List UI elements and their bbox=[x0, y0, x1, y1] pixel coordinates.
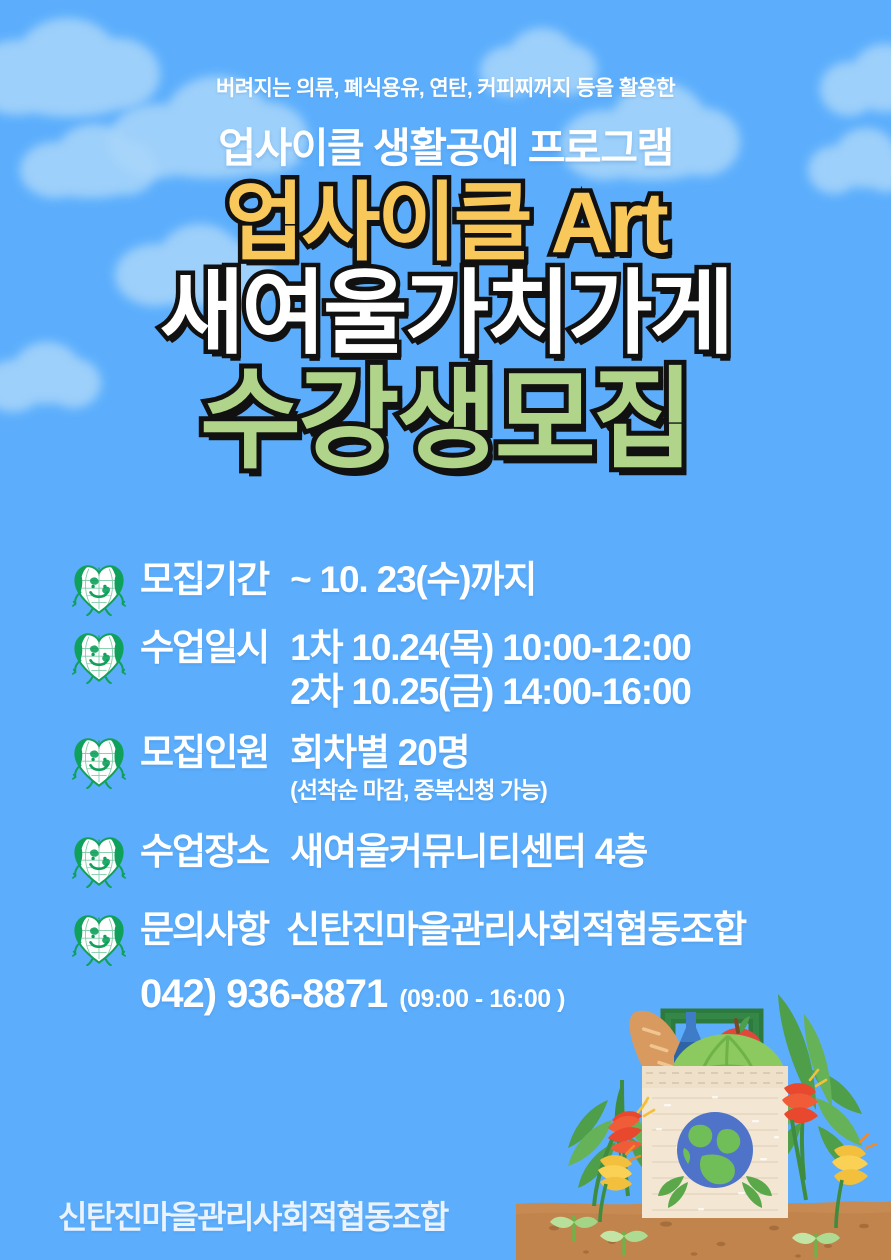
title-line-3: 수강생모집 bbox=[0, 366, 891, 476]
detail-label: 모집인원 bbox=[140, 731, 268, 775]
detail-label: 문의사항 bbox=[140, 908, 268, 952]
detail-row-recruit-period: 모집기간 ~ 10. 23(수)까지 bbox=[72, 558, 872, 616]
detail-label: 수업일시 bbox=[140, 626, 268, 670]
earth-heart-icon bbox=[72, 912, 126, 966]
phone-number[interactable]: 042) 936-8871 bbox=[140, 972, 387, 1016]
detail-row-inquiry: 문의사항 신탄진마을관리사회적협동조합 042) 936-8871(09:00 … bbox=[72, 908, 872, 1017]
details-list: 모집기간 ~ 10. 23(수)까지 bbox=[72, 558, 872, 1017]
detail-row-capacity: 모집인원 회차별 20명 (선착순 마감, 중복신청 가능) bbox=[72, 731, 872, 804]
footer-organization: 신탄진마을관리사회적협동조합 bbox=[58, 1192, 448, 1238]
detail-row-class-schedule: 수업일시 1차 10.24(목) 10:00-12:00 2차 10.25(금)… bbox=[72, 626, 872, 713]
detail-value-line2: 2차 10.25(금) 14:00-16:00 bbox=[290, 670, 690, 714]
title-line-2: 새여울가치가게 bbox=[0, 268, 891, 360]
detail-value-line1: 1차 10.24(목) 10:00-12:00 bbox=[290, 627, 690, 668]
detail-value: 새여울커뮤니티센터 4층 bbox=[290, 830, 647, 874]
detail-value: 1차 10.24(목) 10:00-12:00 2차 10.25(금) 14:0… bbox=[290, 626, 690, 713]
detail-label: 수업장소 bbox=[140, 830, 268, 874]
poster-title-block: 업사이클 Art 새여울가치가게 수강생모집 bbox=[0, 180, 891, 476]
yellow-flower-left bbox=[598, 1146, 640, 1222]
earth-heart-icon bbox=[72, 834, 126, 888]
detail-note: (선착순 마감, 중복신청 가능) bbox=[290, 777, 547, 804]
yellow-flower-right bbox=[832, 1134, 876, 1228]
poster-header: 버려지는 의류, 폐식용유, 연탄, 커피찌꺼지 등을 활용한 업사이클 생활공… bbox=[0, 72, 891, 174]
detail-value: 신탄진마을관리사회적협동조합 bbox=[286, 908, 746, 952]
contact-hours: (09:00 - 16:00 ) bbox=[399, 985, 565, 1013]
title-line-1: 업사이클 Art bbox=[0, 180, 891, 266]
contact-phone-line[interactable]: 042) 936-8871(09:00 - 16:00 ) bbox=[140, 972, 872, 1017]
detail-label: 모집기간 bbox=[140, 558, 268, 602]
poster-canvas: 버려지는 의류, 폐식용유, 연탄, 커피찌꺼지 등을 활용한 업사이클 생활공… bbox=[0, 0, 891, 1260]
earth-heart-icon bbox=[72, 562, 126, 616]
sprout bbox=[792, 1233, 840, 1258]
kicker-text: 버려지는 의류, 폐식용유, 연탄, 커피찌꺼지 등을 활용한 bbox=[0, 72, 891, 102]
sprout bbox=[600, 1231, 648, 1256]
sprout bbox=[550, 1216, 598, 1242]
program-subtitle: 업사이클 생활공예 프로그램 bbox=[0, 114, 891, 174]
detail-value: 회차별 20명 (선착순 마감, 중복신청 가능) bbox=[290, 731, 547, 804]
detail-value-line1: 회차별 20명 bbox=[290, 732, 469, 773]
earth-heart-icon bbox=[72, 630, 126, 684]
tote-bag bbox=[642, 1066, 788, 1218]
detail-row-location: 수업장소 새여울커뮤니티센터 4층 bbox=[72, 830, 872, 888]
earth-heart-icon bbox=[72, 735, 126, 789]
detail-value: ~ 10. 23(수)까지 bbox=[290, 558, 536, 602]
